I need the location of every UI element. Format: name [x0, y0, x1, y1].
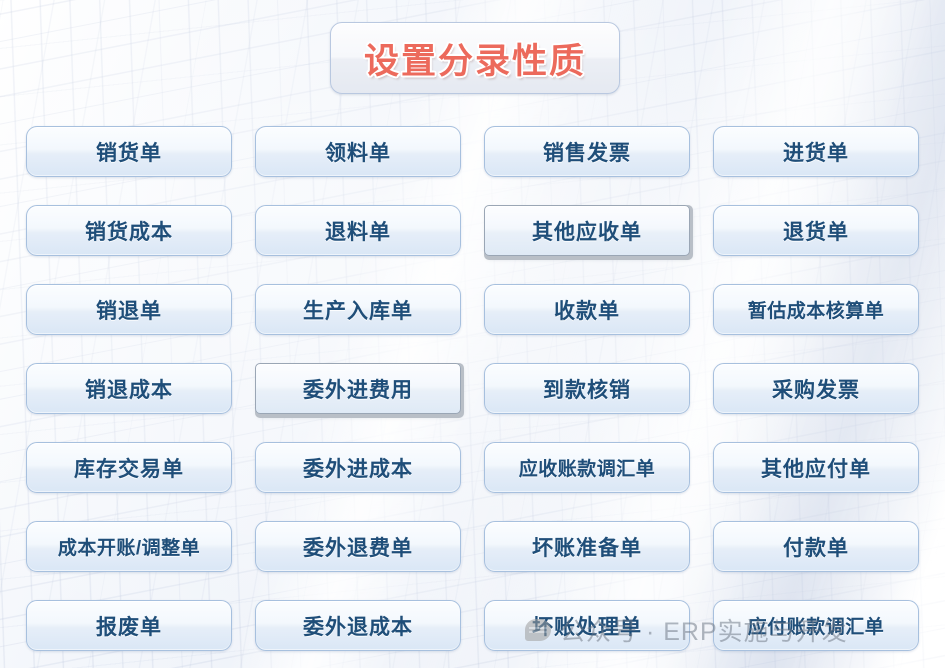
voucher-button[interactable]: 退料单 — [255, 205, 461, 256]
voucher-button-label: 进货单 — [783, 137, 849, 167]
voucher-button[interactable]: 采购发票 — [713, 363, 919, 414]
voucher-button[interactable]: 暂估成本核算单 — [713, 284, 919, 335]
voucher-button-label: 收款单 — [554, 295, 620, 325]
voucher-button[interactable]: 退货单 — [713, 205, 919, 256]
voucher-button-label: 委外进费用 — [303, 374, 413, 404]
voucher-button[interactable]: 坏账准备单 — [484, 521, 690, 572]
page-title-box: 设置分录性质 — [330, 22, 620, 94]
voucher-button-label: 委外退费单 — [303, 532, 413, 562]
voucher-button-label: 库存交易单 — [74, 453, 184, 483]
voucher-button[interactable]: 委外退成本 — [255, 600, 461, 651]
voucher-button-label: 领料单 — [325, 137, 391, 167]
voucher-button-label: 其他应付单 — [761, 453, 871, 483]
voucher-button[interactable]: 进货单 — [713, 126, 919, 177]
app-root: 设置分录性质 销货单领料单销售发票进货单销货成本退料单其他应收单退货单销退单生产… — [0, 0, 945, 668]
voucher-button-label: 委外进成本 — [303, 453, 413, 483]
voucher-button[interactable]: 应付账款调汇单 — [713, 600, 919, 651]
voucher-button[interactable]: 应收账款调汇单 — [484, 442, 690, 493]
voucher-button[interactable]: 销退成本 — [26, 363, 232, 414]
voucher-button[interactable]: 领料单 — [255, 126, 461, 177]
voucher-button[interactable]: 销退单 — [26, 284, 232, 335]
voucher-button-label: 坏账准备单 — [532, 532, 642, 562]
voucher-button[interactable]: 其他应付单 — [713, 442, 919, 493]
voucher-button-label: 付款单 — [783, 532, 849, 562]
voucher-button-label: 到款核销 — [543, 374, 631, 404]
voucher-button-label: 退货单 — [783, 216, 849, 246]
voucher-button-label: 销货单 — [96, 137, 162, 167]
voucher-button-label: 委外退成本 — [303, 611, 413, 641]
voucher-button[interactable]: 销货单 — [26, 126, 232, 177]
voucher-button-label: 暂估成本核算单 — [748, 296, 885, 323]
voucher-button-label: 销退成本 — [85, 374, 173, 404]
voucher-button-label: 应收账款调汇单 — [519, 454, 656, 481]
voucher-button-label: 销售发票 — [543, 137, 631, 167]
voucher-button[interactable]: 库存交易单 — [26, 442, 232, 493]
voucher-type-button-grid: 销货单领料单销售发票进货单销货成本退料单其他应收单退货单销退单生产入库单收款单暂… — [26, 126, 920, 651]
voucher-button[interactable]: 成本开账/调整单 — [26, 521, 232, 572]
voucher-button[interactable]: 销售发票 — [484, 126, 690, 177]
voucher-button[interactable]: 到款核销 — [484, 363, 690, 414]
voucher-button-label: 报废单 — [96, 611, 162, 641]
voucher-button-label: 坏账处理单 — [532, 611, 642, 641]
voucher-button[interactable]: 委外进成本 — [255, 442, 461, 493]
voucher-button-label: 生产入库单 — [303, 295, 413, 325]
voucher-button-label: 销货成本 — [85, 216, 173, 246]
voucher-button-label: 其他应收单 — [532, 216, 642, 246]
voucher-button[interactable]: 报废单 — [26, 600, 232, 651]
voucher-button-label: 成本开账/调整单 — [58, 533, 200, 560]
voucher-button[interactable]: 生产入库单 — [255, 284, 461, 335]
voucher-button[interactable]: 付款单 — [713, 521, 919, 572]
voucher-button[interactable]: 委外退费单 — [255, 521, 461, 572]
voucher-button[interactable]: 收款单 — [484, 284, 690, 335]
voucher-button-label: 采购发票 — [772, 374, 860, 404]
voucher-button[interactable]: 销货成本 — [26, 205, 232, 256]
voucher-button-label: 销退单 — [96, 295, 162, 325]
voucher-button[interactable]: 委外进费用 — [255, 363, 461, 414]
voucher-button[interactable]: 其他应收单 — [484, 205, 690, 256]
page-title: 设置分录性质 — [364, 33, 586, 84]
page-title-container: 设置分录性质 — [330, 22, 620, 94]
voucher-button[interactable]: 坏账处理单 — [484, 600, 690, 651]
voucher-button-label: 应付账款调汇单 — [748, 612, 885, 639]
voucher-button-label: 退料单 — [325, 216, 391, 246]
